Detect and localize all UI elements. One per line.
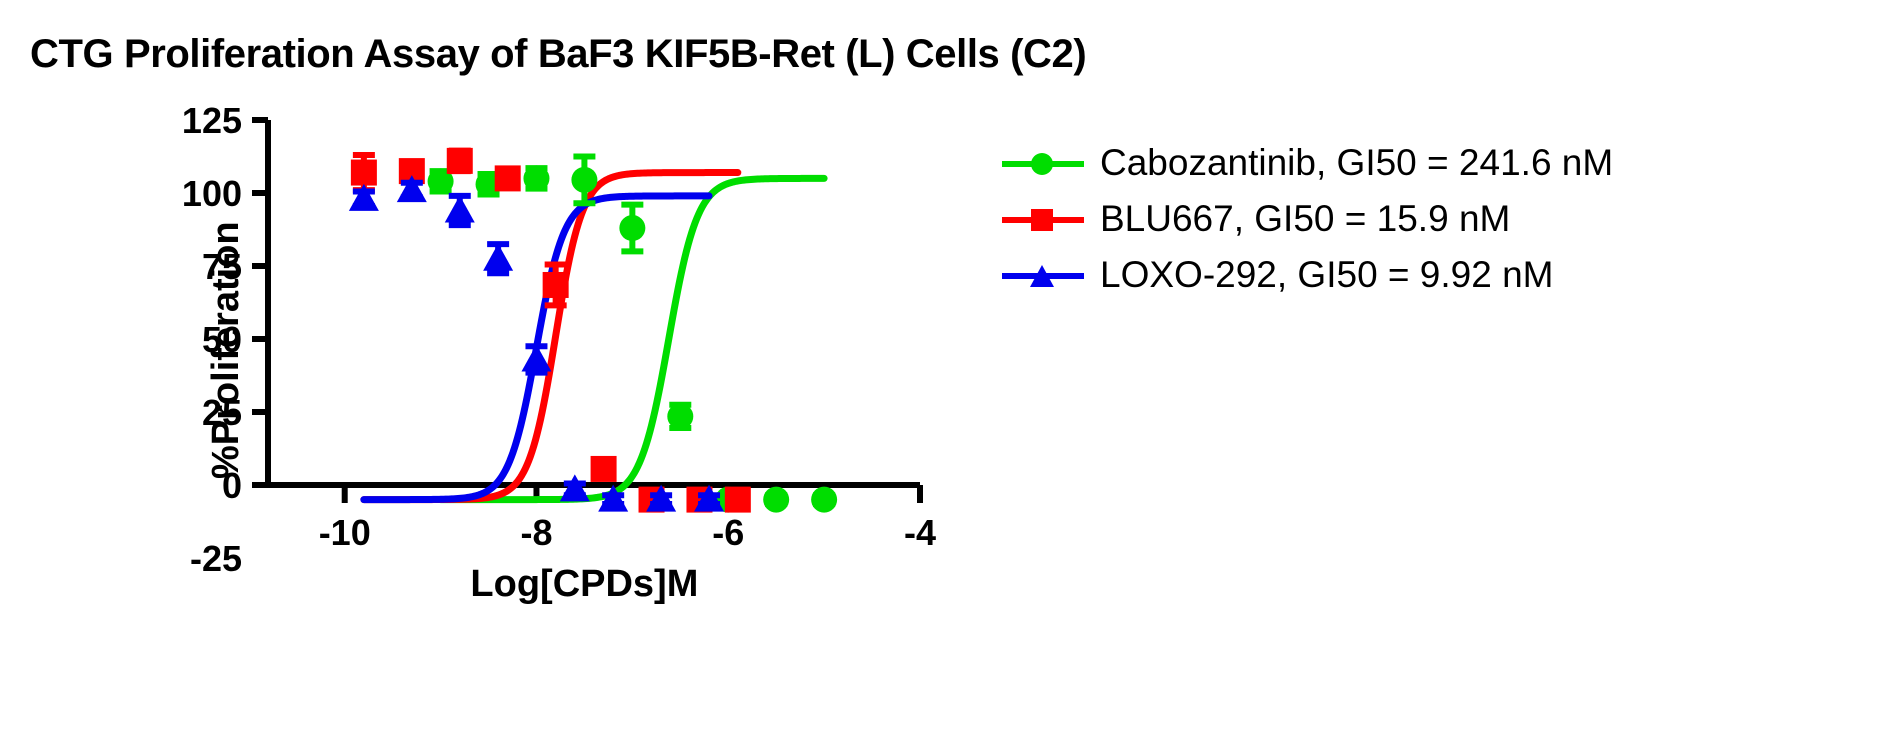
data-point — [447, 148, 473, 174]
plot-area: -250255075100125-10-8-6-4 — [0, 0, 1898, 750]
data-point — [619, 215, 645, 241]
data-point — [591, 456, 617, 482]
y-tick-label: -25 — [190, 538, 242, 579]
data-point — [495, 165, 521, 191]
data-point — [523, 165, 549, 191]
data-point — [763, 487, 789, 513]
legend-key-blu667 — [1000, 199, 1086, 239]
data-point — [571, 167, 597, 193]
legend-item-loxo292[interactable]: LOXO-292, GI50 = 9.92 nM — [1000, 252, 1613, 298]
y-tick-label: 125 — [182, 100, 242, 141]
series-points-cabozantinib — [428, 157, 838, 513]
y-axis-title: %Proliferation — [205, 221, 248, 479]
data-point — [811, 487, 837, 513]
legend-key-loxo292 — [1000, 255, 1086, 295]
series-curve-blu667 — [364, 173, 738, 500]
data-point — [351, 160, 377, 186]
y-tick-label: 100 — [182, 173, 242, 214]
x-axis-title: Log[CPDs]M — [470, 563, 698, 606]
data-point — [445, 196, 475, 223]
legend-label-blu667: BLU667, GI50 = 15.9 nM — [1100, 199, 1510, 239]
series-points-blu667 — [351, 148, 751, 513]
data-point — [725, 487, 751, 513]
data-point — [483, 244, 513, 271]
triangle-marker-icon — [1028, 263, 1056, 289]
x-tick-label: -8 — [520, 512, 552, 553]
x-tick-label: -6 — [712, 512, 744, 553]
data-point — [667, 403, 693, 429]
legend-item-blu667[interactable]: BLU667, GI50 = 15.9 nM — [1000, 196, 1613, 242]
x-tick-label: -10 — [319, 512, 371, 553]
legend-key-cabozantinib — [1000, 143, 1086, 183]
x-tick-label: -4 — [904, 512, 936, 553]
chart-legend: Cabozantinib, GI50 = 241.6 nM BLU667, GI… — [1000, 140, 1613, 298]
legend-label-loxo292: LOXO-292, GI50 = 9.92 nM — [1100, 255, 1554, 295]
legend-label-cabozantinib: Cabozantinib, GI50 = 241.6 nM — [1100, 143, 1613, 183]
circle-marker-icon — [1028, 151, 1056, 177]
chart-figure: CTG Proliferation Assay of BaF3 KIF5B-Re… — [0, 0, 1898, 750]
legend-item-cabozantinib[interactable]: Cabozantinib, GI50 = 241.6 nM — [1000, 140, 1613, 186]
square-marker-icon — [1028, 207, 1056, 233]
data-point — [543, 272, 569, 298]
